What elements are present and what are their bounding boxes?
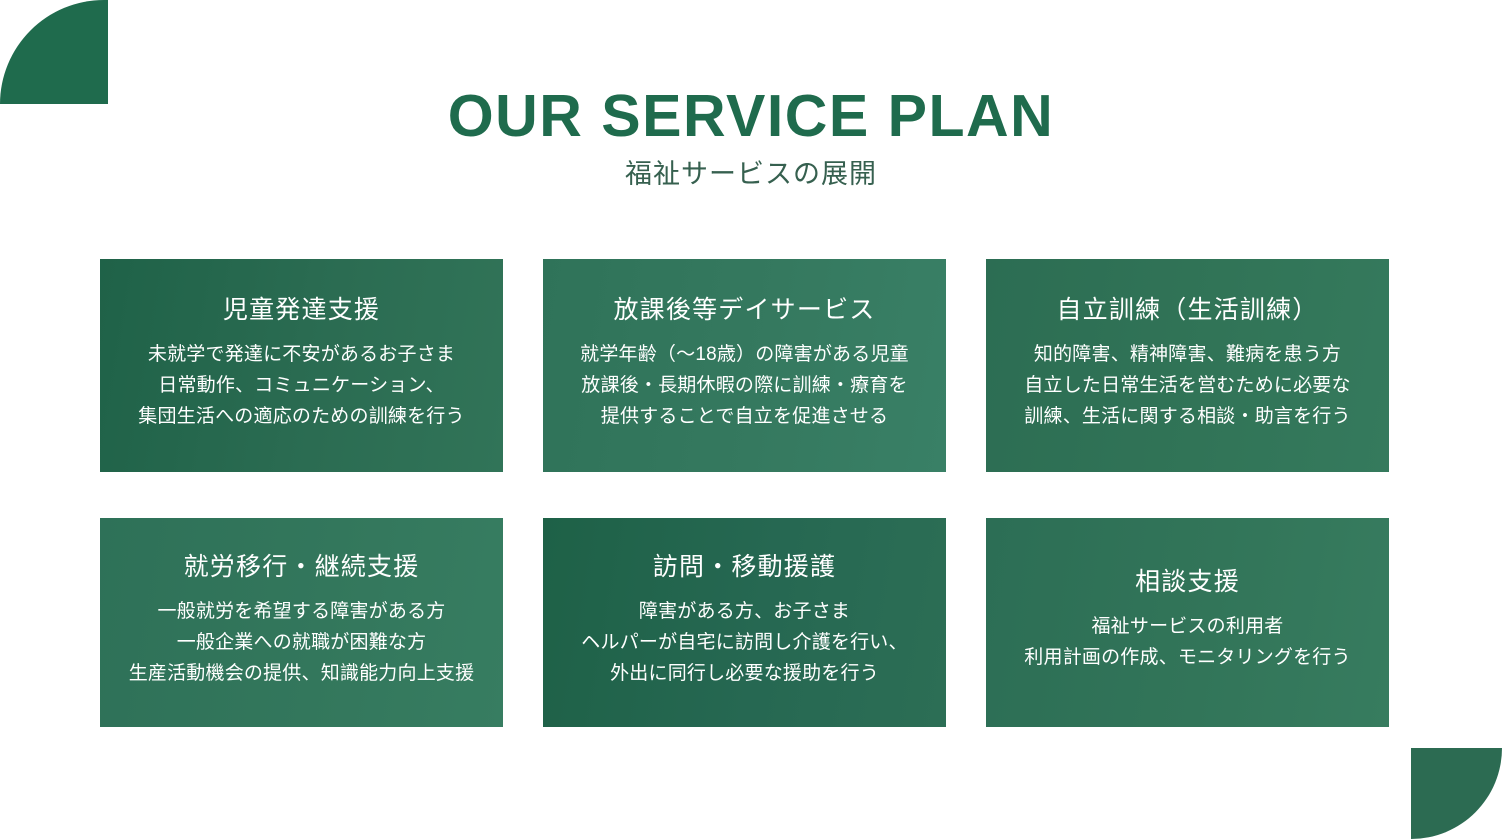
service-card-sodan-shien[interactable]: 相談支援 福祉サービスの利用者 利用計画の作成、モニタリングを行う [986,518,1389,727]
slide-header: OUR SERVICE PLAN 福祉サービスの展開 [0,86,1502,190]
service-card-houkago-day-service[interactable]: 放課後等デイサービス 就学年齢（〜18歳）の障害がある児童 放課後・長期休暇の際… [543,259,946,472]
card-body: 未就学で発達に不安があるお子さま 日常動作、コミュニケーション、 集団生活への適… [138,340,464,432]
card-body-line: 生産活動機会の提供、知識能力向上支援 [129,659,475,690]
card-body: 障害がある方、お子さま ヘルパーが自宅に訪問し介護を行い、 外出に同行し必要な援… [581,597,907,689]
quarter-circle-bottom-right-icon [1411,748,1502,839]
card-title: 児童発達支援 [223,295,380,326]
card-title: 自立訓練（生活訓練） [1056,295,1318,326]
card-title: 訪問・移動援護 [653,552,836,583]
card-body-line: 訓練、生活に関する相談・助言を行う [1024,402,1350,433]
card-body-line: 一般企業への就職が困難な方 [129,628,475,659]
service-card-shuro-ikou-keizoku-shien[interactable]: 就労移行・継続支援 一般就労を希望する障害がある方 一般企業への就職が困難な方 … [100,518,503,727]
card-body-line: 提供することで自立を促進させる [580,402,909,433]
card-body: 一般就労を希望する障害がある方 一般企業への就職が困難な方 生産活動機会の提供、… [129,597,475,689]
card-body-line: 障害がある方、お子さま [581,597,907,628]
slide-canvas: OUR SERVICE PLAN 福祉サービスの展開 児童発達支援 未就学で発達… [0,0,1502,839]
card-body-line: 外出に同行し必要な援助を行う [581,659,907,690]
card-body-line: 未就学で発達に不安があるお子さま [138,340,464,371]
card-body-line: 集団生活への適応のための訓練を行う [138,402,464,433]
page-subtitle: 福祉サービスの展開 [0,158,1502,190]
card-title: 放課後等デイサービス [613,295,875,326]
card-body: 福祉サービスの利用者 利用計画の作成、モニタリングを行う [1024,612,1350,674]
card-body-line: 就学年齢（〜18歳）の障害がある児童 [580,340,909,371]
card-body-line: 知的障害、精神障害、難病を患う方 [1024,340,1350,371]
card-body-line: 一般就労を希望する障害がある方 [129,597,475,628]
service-card-grid: 児童発達支援 未就学で発達に不安があるお子さま 日常動作、コミュニケーション、 … [100,259,1389,727]
card-body-line: 福祉サービスの利用者 [1024,612,1350,643]
card-body: 就学年齢（〜18歳）の障害がある児童 放課後・長期休暇の際に訓練・療育を 提供す… [580,340,909,432]
card-row-top: 児童発達支援 未就学で発達に不安があるお子さま 日常動作、コミュニケーション、 … [100,259,1389,472]
service-card-jiritsu-kunren[interactable]: 自立訓練（生活訓練） 知的障害、精神障害、難病を患う方 自立した日常生活を営むた… [986,259,1389,472]
page-title: OUR SERVICE PLAN [0,86,1502,148]
card-body-line: 利用計画の作成、モニタリングを行う [1024,643,1350,674]
card-body-line: ヘルパーが自宅に訪問し介護を行い、 [581,628,907,659]
card-body-line: 日常動作、コミュニケーション、 [138,371,464,402]
service-card-homon-ido-engo[interactable]: 訪問・移動援護 障害がある方、お子さま ヘルパーが自宅に訪問し介護を行い、 外出… [543,518,946,727]
card-body-line: 自立した日常生活を営むために必要な [1024,371,1350,402]
card-title: 就労移行・継続支援 [184,552,420,583]
service-card-jido-hattatsu-shien[interactable]: 児童発達支援 未就学で発達に不安があるお子さま 日常動作、コミュニケーション、 … [100,259,503,472]
card-body: 知的障害、精神障害、難病を患う方 自立した日常生活を営むために必要な 訓練、生活… [1024,340,1350,432]
card-row-bottom: 就労移行・継続支援 一般就労を希望する障害がある方 一般企業への就職が困難な方 … [100,518,1389,727]
card-title: 相談支援 [1135,567,1240,598]
card-body-line: 放課後・長期休暇の際に訓練・療育を [580,371,909,402]
